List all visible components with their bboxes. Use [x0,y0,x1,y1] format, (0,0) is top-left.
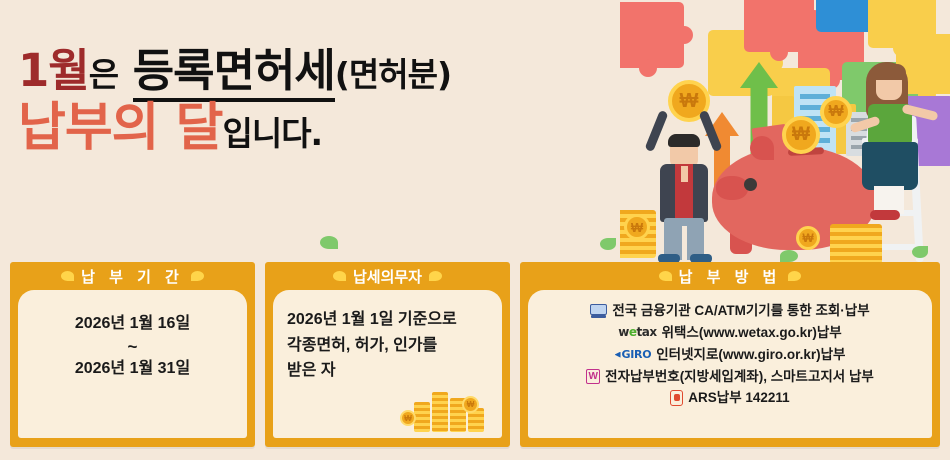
box-payment-period: 납 부 기 간 2026년 1월 16일 ~ 2026년 1월 31일 [10,262,255,447]
wetax-w-icon: W [586,369,600,384]
sprout-icon-3 [912,246,928,258]
box-taxpayer-title: 납세의무자 [265,262,510,290]
headline-payment-month: 납부의 달 [18,98,222,158]
payment-methods-list: 전국 금융기관 CA/ATM기기를 통한 조회·납부 wetax 위택스(www… [528,290,932,409]
box-payment-period-body: 2026년 1월 16일 ~ 2026년 1월 31일 [18,290,247,382]
box-payment-methods: 납 부 방 법 전국 금융기관 CA/ATM기기를 통한 조회·납부 wetax [520,262,940,447]
box-taxpayer-panel: 2026년 1월 1일 기준으로 각종면허, 허가, 인가를 받은 자 ₩ ₩ [273,290,502,438]
sprout-icon [659,271,672,281]
woman-on-ladder [842,58,928,218]
payment-method-atm-text: 전국 금융기관 CA/ATM기기를 통한 조회·납부 [612,300,869,322]
sprout-icon [61,271,74,281]
box-taxpayer-body: 2026년 1월 1일 기준으로 각종면허, 허가, 인가를 받은 자 [273,290,502,384]
sprout-icon-2 [780,250,798,262]
sprout-icon-left-2 [600,238,616,250]
payment-method-ars: ARS납부 142211 [528,387,932,409]
box-payment-methods-title-text: 납 부 방 법 [679,266,782,287]
period-separator: ~ [18,337,247,357]
sprout-icon [191,271,204,281]
taxpayer-line-2: 각종면허, 허가, 인가를 [287,333,502,359]
headline-tax-note: (면허분) [335,55,451,94]
headline-month: 1월 [18,44,89,97]
headline-line-2: 납부의 달입니다. [18,101,678,156]
phone-icon [670,390,683,406]
man-tie [681,166,688,182]
box-payment-period-title-text: 납 부 기 간 [81,266,184,287]
headline-particle: 은 [89,55,118,94]
won-coin-piggy: ₩ [782,116,820,154]
info-boxes: 납 부 기 간 2026년 1월 16일 ~ 2026년 1월 31일 납세의무… [10,262,940,447]
sprout-icon [333,271,346,281]
sprout-icon [788,271,801,281]
coin-stack-right [830,224,882,264]
atm-icon [590,304,607,318]
headline-line-1: 1월은 등록면허세(면허분) [18,48,678,93]
man-arm-right [698,110,722,152]
box-payment-methods-title: 납 부 방 법 [520,262,940,290]
payment-method-giro: GIRO 인터넷지로(www.giro.or.kr)납부 [528,344,932,366]
period-end: 2026년 1월 31일 [18,357,247,382]
taxpayer-line-1: 2026년 1월 1일 기준으로 [287,307,502,333]
box-payment-period-panel: 2026년 1월 16일 ~ 2026년 1월 31일 [18,290,247,438]
payment-method-wetax: wetax 위택스(www.wetax.go.kr)납부 [528,322,932,344]
coin-stack-illustration: ₩ ₩ [400,388,492,432]
tax-notice-banner: ₩ ₩ ₩ [0,0,950,460]
woman-skirt [862,142,918,190]
period-start: 2026년 1월 16일 [18,312,247,337]
man-leg-gap [682,226,687,260]
payment-method-account: W 전자납부번호(지방세입계좌), 스마트고지서 납부 [528,366,932,388]
box-taxpayer: 납세의무자 2026년 1월 1일 기준으로 각종면허, 허가, 인가를 받은 … [265,262,510,447]
taxpayer-line-3: 받은 자 [287,358,502,384]
won-coin-stack-left: ₩ [624,214,650,240]
box-payment-period-title: 납 부 기 간 [10,262,255,290]
wetax-logo-icon: wetax [618,323,656,342]
payment-method-ars-text: ARS납부 142211 [688,387,789,409]
puzzle-piece-blue-1 [816,0,876,32]
giro-logo-icon: GIRO [615,346,652,364]
headline: 1월은 등록면허세(면허분) 납부의 달입니다. [18,48,678,156]
headline-copula: 입니다. [222,114,322,153]
payment-method-giro-text: 인터넷지로(www.giro.or.kr)납부 [656,344,845,366]
piggy-ear [750,136,774,160]
box-payment-methods-panel: 전국 금융기관 CA/ATM기기를 통한 조회·납부 wetax 위택스(www… [528,290,932,438]
woman-hair-front [872,64,906,80]
box-taxpayer-title-text: 납세의무자 [353,266,422,287]
payment-method-account-text: 전자납부번호(지방세입계좌), 스마트고지서 납부 [605,366,874,388]
sprout-icon [429,271,442,281]
piggy-nostril [744,178,757,191]
payment-method-atm: 전국 금융기관 CA/ATM기기를 통한 조회·납부 [528,300,932,322]
payment-method-wetax-text: 위택스(www.wetax.go.kr)납부 [662,322,842,344]
headline-tax-name: 등록면허세 [133,44,335,102]
won-coin-stack-right: ₩ [796,226,820,250]
sprout-icon-left-1 [320,236,338,249]
woman-shoe [870,210,900,220]
